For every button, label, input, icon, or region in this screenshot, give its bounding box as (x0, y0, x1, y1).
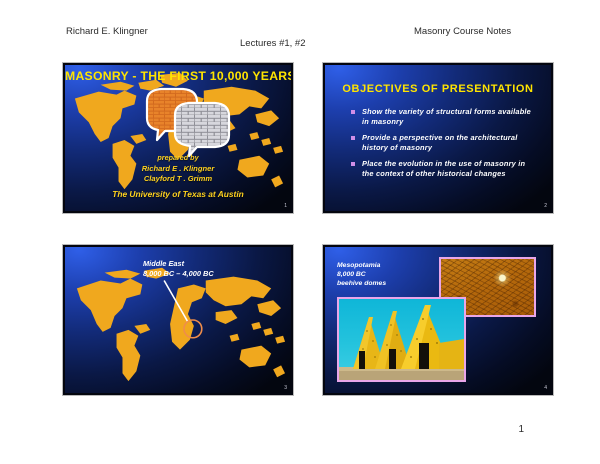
slide-4-label: Mesopotamia 8,000 BC beehive domes (337, 261, 386, 288)
slide-1-number: 1 (284, 203, 287, 209)
slide-2[interactable]: OBJECTIVES OF PRESENTATION Show the vari… (322, 62, 554, 214)
slide-1-prepared-by: prepared by (65, 153, 291, 164)
slide-3-label-line1: Middle East (143, 259, 214, 269)
slide-3[interactable]: Middle East 8,000 BC – 4,000 BC 3 (62, 244, 294, 396)
page-header: Richard E. Klingner Masonry Course Notes… (0, 0, 600, 50)
bullet-text: Show the variety of structural forms ava… (362, 107, 537, 126)
slide-3-number: 3 (284, 385, 287, 391)
header-course-title: Masonry Course Notes (414, 26, 511, 37)
slide-3-label-line2: 8,000 BC – 4,000 BC (143, 269, 214, 279)
slide-1-canvas: MASONRY - THE FIRST 10,000 YEARS (65, 65, 291, 211)
bullet-item: Place the evolution in the use of masonr… (351, 159, 537, 178)
slide-4-number: 4 (544, 385, 547, 391)
slide-3-canvas: Middle East 8,000 BC – 4,000 BC 3 (65, 247, 291, 393)
handout-page: Richard E. Klingner Masonry Course Notes… (0, 0, 600, 464)
bullet-square-icon (351, 162, 355, 166)
header-author: Richard E. Klingner (66, 26, 148, 37)
slide-1[interactable]: MASONRY - THE FIRST 10,000 YEARS (62, 62, 294, 214)
slide-2-number: 2 (544, 203, 547, 209)
slide-2-title: OBJECTIVES OF PRESENTATION (325, 83, 551, 95)
bullet-item: Provide a perspective on the architectur… (351, 133, 537, 152)
masonry-brick-icons (143, 87, 235, 159)
slide-4-label-line2: 8,000 BC (337, 270, 386, 279)
slide-1-author-2: Clayford T . Grimm (65, 174, 291, 185)
slide-1-credits: prepared by Richard E . Klingner Clayfor… (65, 153, 291, 185)
bullet-square-icon (351, 110, 355, 114)
slide-4-label-line1: Mesopotamia (337, 261, 386, 270)
slide-4[interactable]: Mesopotamia 8,000 BC beehive domes (322, 244, 554, 396)
photo-beehive-domes (337, 297, 466, 382)
bullet-text: Provide a perspective on the architectur… (362, 133, 537, 152)
slide-4-label-line3: beehive domes (337, 279, 386, 288)
bullet-item: Show the variety of structural forms ava… (351, 107, 537, 126)
bullet-text: Place the evolution in the use of masonr… (362, 159, 537, 178)
header-lectures: Lectures #1, #2 (240, 38, 306, 49)
slide-2-canvas: OBJECTIVES OF PRESENTATION Show the vari… (325, 65, 551, 211)
slide-4-canvas: Mesopotamia 8,000 BC beehive domes (325, 247, 551, 393)
slide-2-bullet-list: Show the variety of structural forms ava… (351, 107, 537, 186)
slide-1-title: MASONRY - THE FIRST 10,000 YEARS (65, 69, 291, 83)
slide-3-label: Middle East 8,000 BC – 4,000 BC (143, 259, 214, 278)
bullet-square-icon (351, 136, 355, 140)
slide-1-university: The University of Texas at Austin (65, 189, 291, 199)
slide-1-author-1: Richard E . Klingner (65, 164, 291, 175)
beehive-domes-illustration (339, 299, 464, 380)
page-number: 1 (0, 424, 600, 435)
